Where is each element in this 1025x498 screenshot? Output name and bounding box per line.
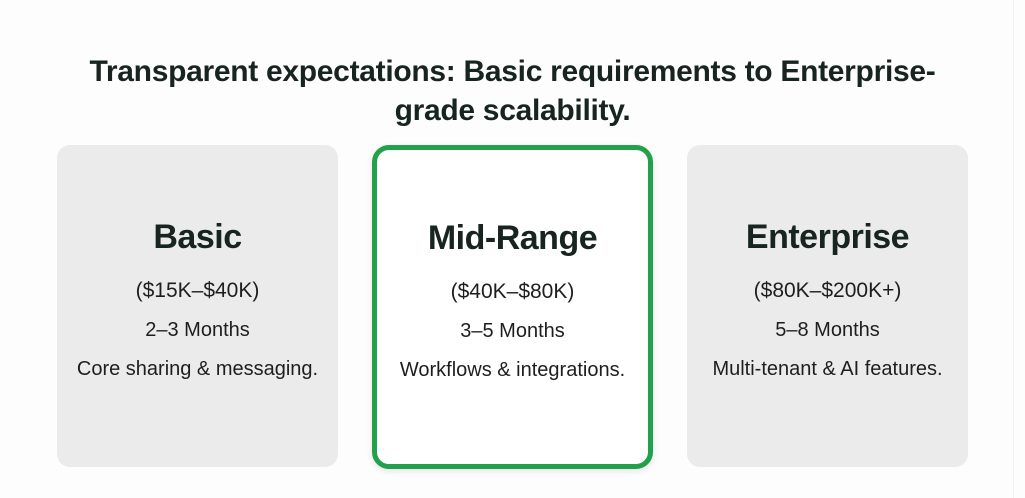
pricing-card-list: Basic ($15K–$40K) 2–3 Months Core sharin… (57, 145, 968, 469)
pricing-card-feature: Core sharing & messaging. (73, 343, 322, 382)
pricing-card-feature: Workflows & integrations. (393, 344, 632, 383)
pricing-card-title: Enterprise (703, 145, 952, 257)
pricing-card-duration: 5–8 Months (703, 304, 952, 343)
pricing-card-enterprise[interactable]: Enterprise ($80K–$200K+) 5–8 Months Mult… (687, 145, 968, 467)
pricing-card-feature: Multi-tenant & AI features. (703, 343, 952, 382)
pricing-card-price: ($40K–$80K) (393, 258, 632, 305)
page-title: Transparent expectations: Basic requirem… (0, 52, 1025, 130)
pricing-card-price: ($15K–$40K) (73, 257, 322, 304)
pricing-card-basic[interactable]: Basic ($15K–$40K) 2–3 Months Core sharin… (57, 145, 338, 467)
pricing-card-price: ($80K–$200K+) (703, 257, 952, 304)
pricing-card-mid-range[interactable]: Mid-Range ($40K–$80K) 3–5 Months Workflo… (372, 145, 653, 469)
pricing-card-title: Mid-Range (393, 150, 632, 258)
pricing-card-duration: 2–3 Months (73, 304, 322, 343)
pricing-tiers-graphic: Transparent expectations: Basic requirem… (0, 0, 1025, 498)
pricing-card-title: Basic (73, 145, 322, 257)
pricing-card-duration: 3–5 Months (393, 305, 632, 344)
